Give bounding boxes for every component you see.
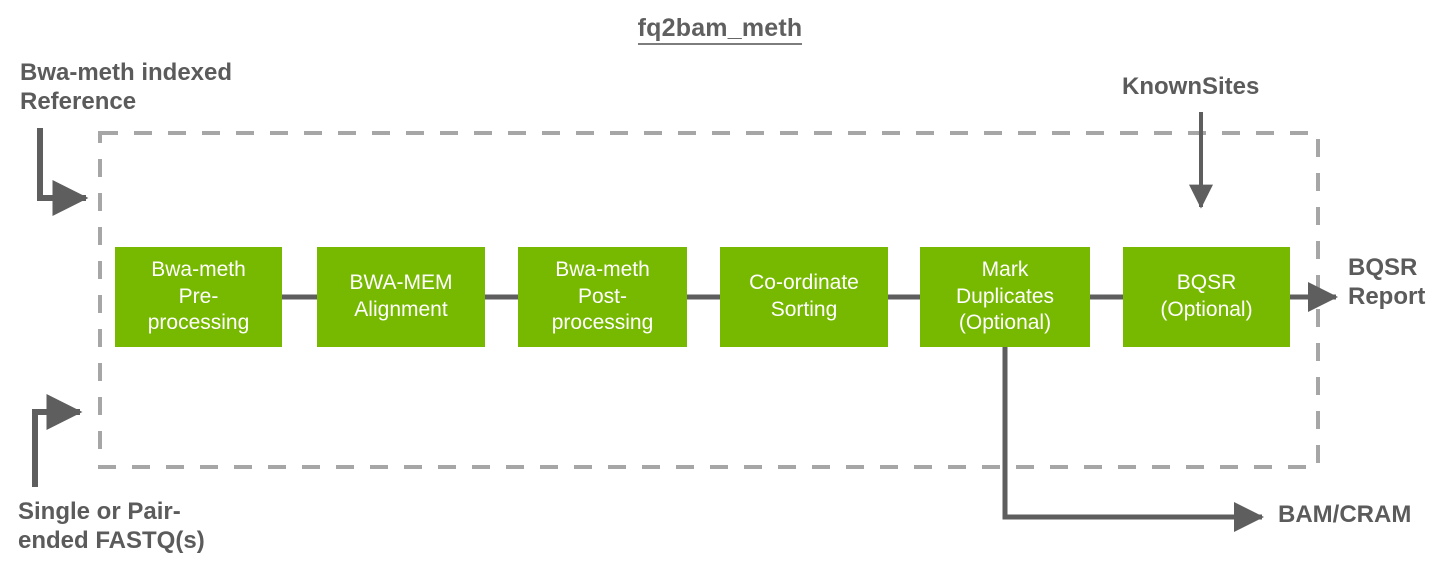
stage-box-mark-duplicates[interactable]: Mark Duplicates (Optional) (920, 247, 1090, 347)
diagram-canvas: fq2bam_meth Bwa-meth indexed Reference S… (0, 0, 1440, 578)
input-label-fastq: Single or Pair- ended FASTQ(s) (18, 497, 318, 556)
output-label-bqsr-report: BQSR Report (1348, 253, 1440, 312)
stage-box-bwa-meth-preprocessing[interactable]: Bwa-meth Pre- processing (115, 247, 282, 347)
connector-bam-cram-output (1005, 347, 1262, 517)
stage-box-bwa-meth-postprocessing[interactable]: Bwa-meth Post- processing (518, 247, 687, 347)
connector-reference-input (40, 128, 86, 198)
output-label-bam-cram: BAM/CRAM (1278, 500, 1440, 529)
connector-fastq-input (35, 412, 80, 487)
input-label-knownsites: KnownSites (1122, 72, 1382, 101)
stage-box-co-ordinate-sorting[interactable]: Co-ordinate Sorting (720, 247, 888, 347)
stage-box-bqsr[interactable]: BQSR (Optional) (1123, 247, 1290, 347)
input-label-reference: Bwa-meth indexed Reference (20, 58, 320, 117)
stage-box-bwa-mem-alignment[interactable]: BWA-MEM Alignment (317, 247, 485, 347)
page-title: fq2bam_meth (0, 14, 1440, 43)
page-title-text: fq2bam_meth (638, 14, 803, 45)
